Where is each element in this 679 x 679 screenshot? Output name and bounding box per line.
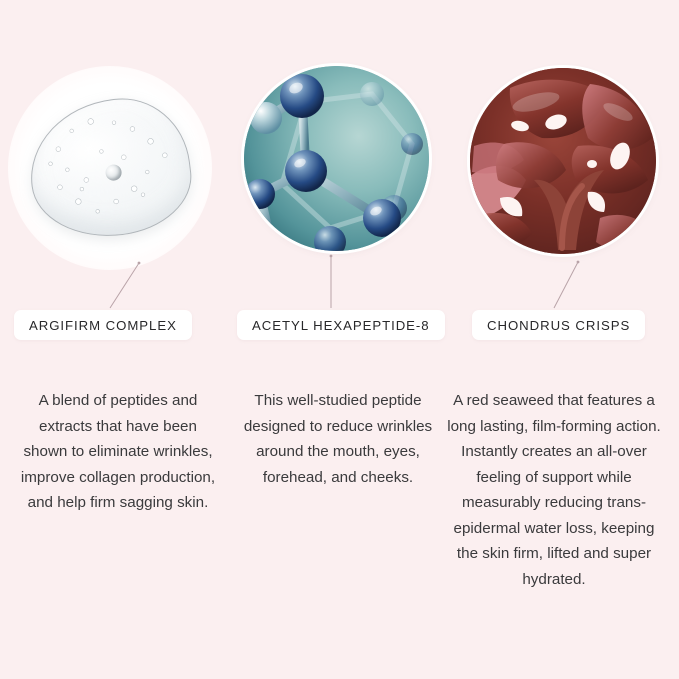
ingredient-label-text: ARGIFIRM COMPLEX	[29, 318, 177, 333]
ingredient-image-row	[0, 0, 679, 300]
ingredient-label-text: CHONDRUS CRISPS	[487, 318, 630, 333]
ingredient-image-chondrus-crisps	[470, 68, 656, 254]
ingredient-label-chondrus-crisps: CHONDRUS CRISPS	[472, 310, 645, 340]
molecule-icon	[244, 66, 429, 251]
ingredient-label-argifirm-complex: ARGIFIRM COMPLEX	[14, 310, 192, 340]
gel-bubbles-icon	[23, 92, 196, 244]
seaweed-icon	[470, 68, 656, 254]
ingredient-image-acetyl-hexapeptide-8	[244, 66, 429, 251]
ingredient-label-acetyl-hexapeptide-8: ACETYL HEXAPEPTIDE-8	[237, 310, 445, 340]
ingredient-image-argifirm-complex	[8, 66, 212, 270]
ingredient-infographic: ARGIFIRM COMPLEX ACETYL HEXAPEPTIDE-8 CH…	[0, 0, 679, 679]
ingredient-description-chondrus-crisps: A red seaweed that features a long lasti…	[442, 388, 666, 592]
gel-droplet-icon	[22, 91, 197, 245]
ingredient-label-row: ARGIFIRM COMPLEX ACETYL HEXAPEPTIDE-8 CH…	[0, 310, 679, 342]
ingredient-label-text: ACETYL HEXAPEPTIDE-8	[252, 318, 430, 333]
ingredient-description-acetyl-hexapeptide-8: This well-studied peptide designed to re…	[238, 388, 438, 490]
ingredient-description-argifirm-complex: A blend of peptides and extracts that ha…	[20, 388, 216, 516]
